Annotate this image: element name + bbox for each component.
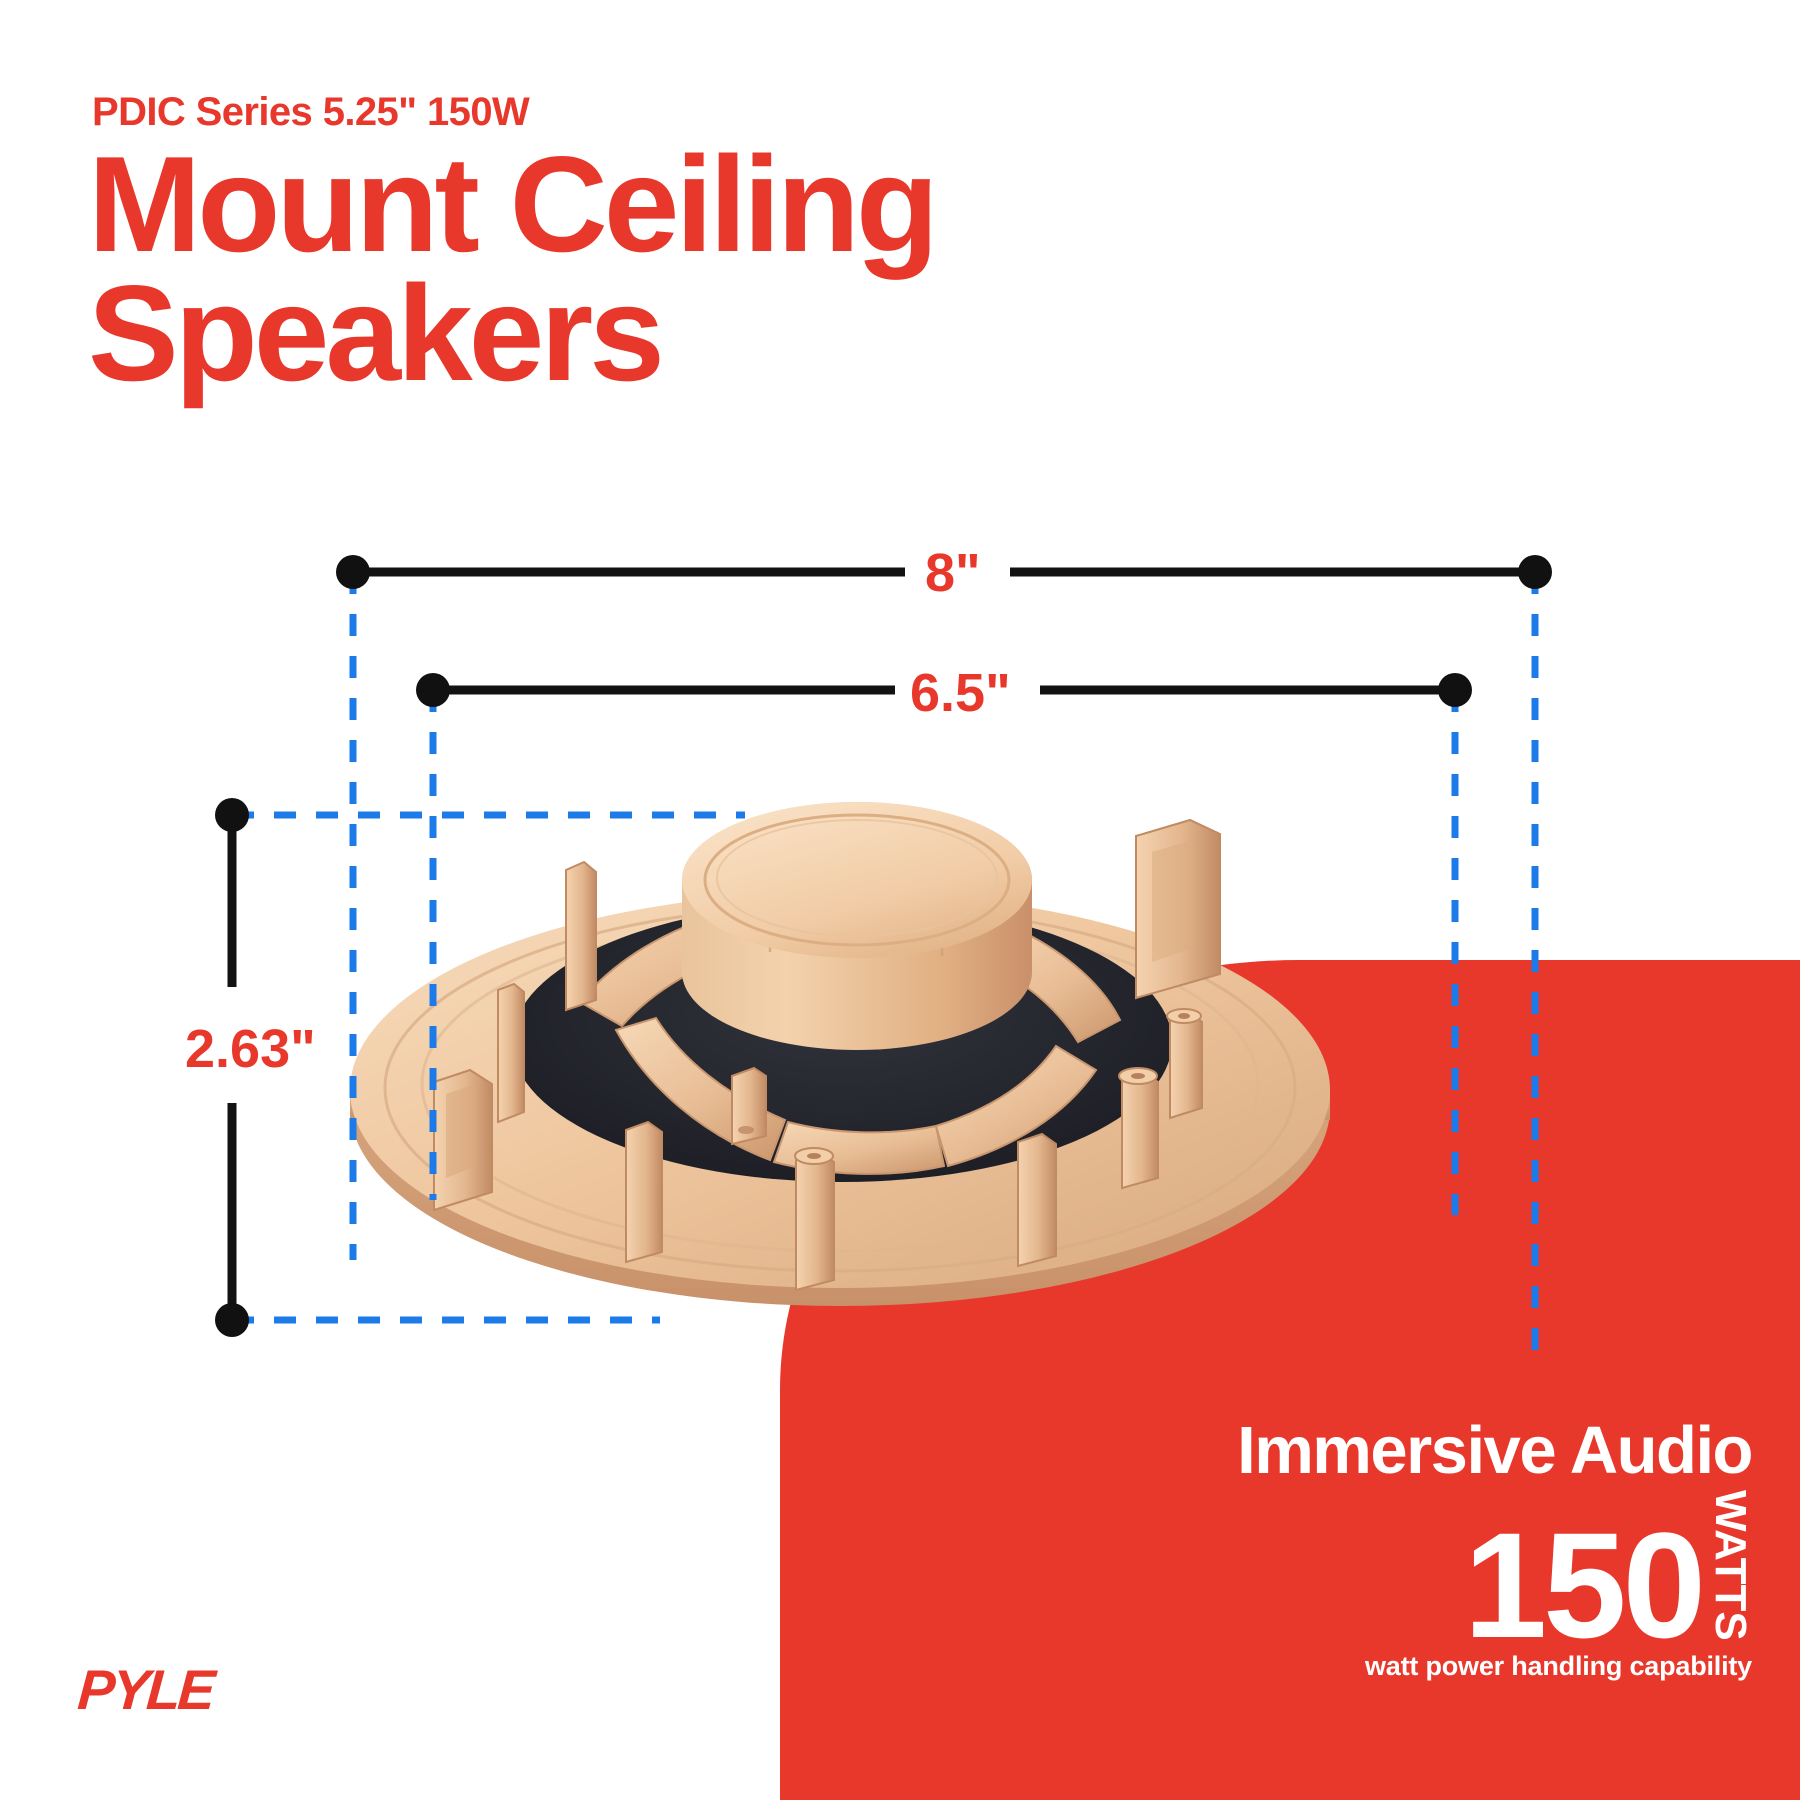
badge-watt-unit: WATTS [1708, 1490, 1752, 1647]
badge-subtext: watt power handling capability [1237, 1651, 1752, 1682]
infographic-canvas: PDIC Series 5.25" 150W Mount Ceiling Spe… [0, 0, 1800, 1800]
page-title: Mount Ceiling Speakers [88, 140, 1388, 398]
dimension-label-outer-width: 8" [925, 542, 981, 604]
page-title-line-2: Speakers [88, 269, 1388, 398]
power-badge: Immersive Audio 150 WATTS watt power han… [1237, 1417, 1752, 1682]
pyle-logo: PYLE [76, 1657, 215, 1722]
product-image-in-ceiling-speaker [330, 690, 1350, 1310]
dimension-label-depth: 2.63" [185, 1018, 316, 1080]
badge-watt-row: 150 WATTS [1237, 1490, 1752, 1647]
badge-watt-number: 150 [1464, 1524, 1702, 1647]
dimension-label-cutout-width: 6.5" [910, 662, 1011, 724]
badge-headline: Immersive Audio [1237, 1417, 1752, 1484]
